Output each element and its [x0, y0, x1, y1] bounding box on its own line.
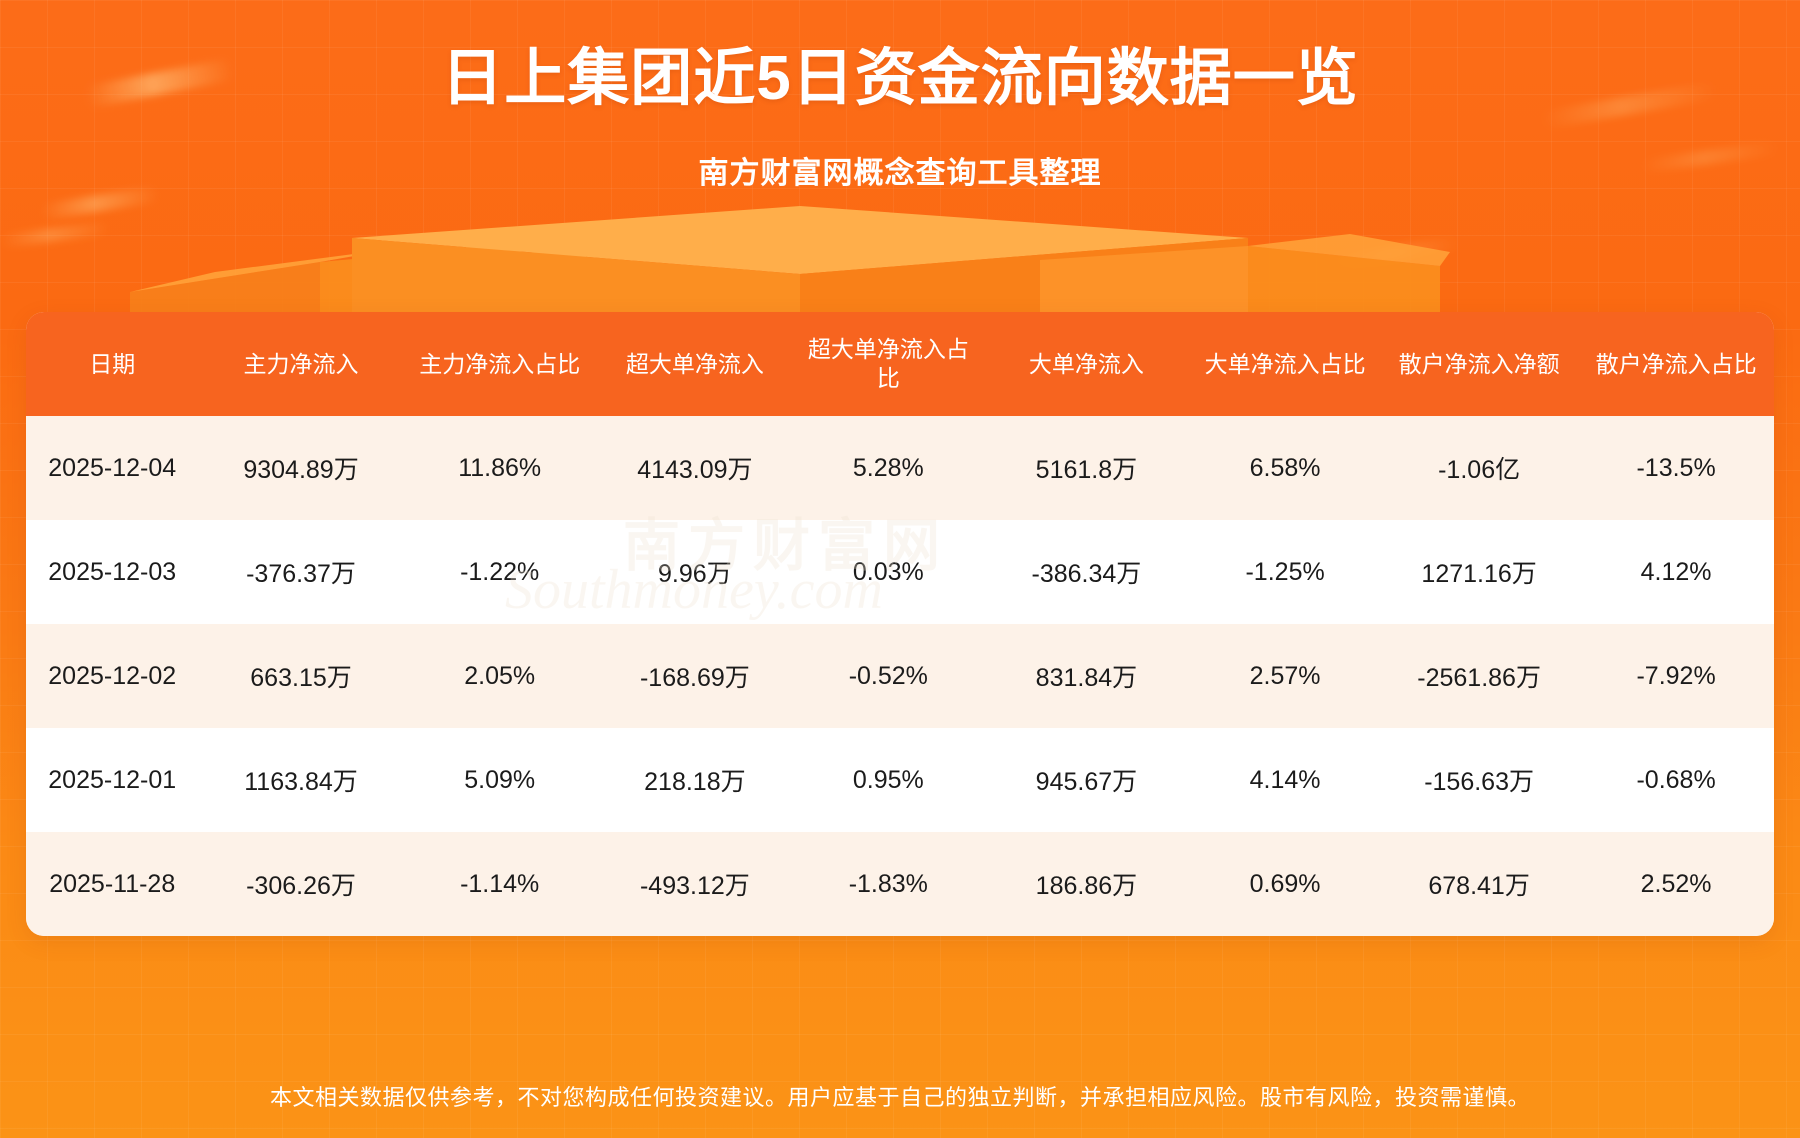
- disclaimer-text: 本文相关数据仅供参考，不对您构成任何投资建议。用户应基于自己的独立判断，并承担相…: [0, 1080, 1800, 1112]
- cell-retail-net: 1271.16万: [1380, 520, 1578, 624]
- cell-lg-pct: 2.57%: [1190, 624, 1380, 728]
- column-header-xl-net[interactable]: 超大单净流入: [596, 312, 794, 416]
- cell-lg-net: -386.34万: [983, 520, 1190, 624]
- cell-lg-net: 186.86万: [983, 832, 1190, 936]
- cell-xl-net: 4143.09万: [596, 416, 794, 520]
- cell-main-net: 9304.89万: [198, 416, 403, 520]
- cell-date: 2025-12-02: [26, 624, 198, 728]
- cell-retail-net: -2561.86万: [1380, 624, 1578, 728]
- cell-date: 2025-12-03: [26, 520, 198, 624]
- cell-main-pct: 2.05%: [404, 624, 596, 728]
- cell-main-net: 1163.84万: [198, 728, 403, 832]
- cell-main-pct: -1.22%: [404, 520, 596, 624]
- cell-main-pct: -1.14%: [404, 832, 596, 936]
- column-header-retail-net[interactable]: 散户净流入净额: [1380, 312, 1578, 416]
- column-header-main-pct[interactable]: 主力净流入占比: [404, 312, 596, 416]
- cell-retail-pct: 4.12%: [1578, 520, 1774, 624]
- cell-xl-net: -493.12万: [596, 832, 794, 936]
- fund-flow-table: 日期 主力净流入 主力净流入占比 超大单净流入 超大单净流入占比 大单净流入 大…: [26, 312, 1774, 936]
- cell-lg-net: 5161.8万: [983, 416, 1190, 520]
- cell-main-net: -306.26万: [198, 832, 403, 936]
- fund-flow-table-card: 日期 主力净流入 主力净流入占比 超大单净流入 超大单净流入占比 大单净流入 大…: [26, 312, 1774, 936]
- cell-retail-net: -156.63万: [1380, 728, 1578, 832]
- cell-lg-net: 831.84万: [983, 624, 1190, 728]
- cell-date: 2025-12-04: [26, 416, 198, 520]
- cell-retail-pct: -13.5%: [1578, 416, 1774, 520]
- cell-main-pct: 11.86%: [404, 416, 596, 520]
- page-title: 日上集团近5日资金流向数据一览: [0, 42, 1800, 115]
- cell-xl-pct: -0.52%: [794, 624, 983, 728]
- cell-retail-pct: 2.52%: [1578, 832, 1774, 936]
- table-row: 2025-12-03 -376.37万 -1.22% 9.96万 0.03% -…: [26, 520, 1774, 624]
- cell-xl-pct: 5.28%: [794, 416, 983, 520]
- cell-lg-pct: -1.25%: [1190, 520, 1380, 624]
- cell-date: 2025-11-28: [26, 832, 198, 936]
- cell-date: 2025-12-01: [26, 728, 198, 832]
- column-header-lg-pct[interactable]: 大单净流入占比: [1190, 312, 1380, 416]
- cell-xl-net: 9.96万: [596, 520, 794, 624]
- light-streak-decoration: [1330, 236, 1461, 270]
- cell-lg-pct: 0.69%: [1190, 832, 1380, 936]
- cell-xl-pct: 0.03%: [794, 520, 983, 624]
- cell-xl-net: -168.69万: [596, 624, 794, 728]
- cell-xl-pct: -1.83%: [794, 832, 983, 936]
- column-header-xl-pct[interactable]: 超大单净流入占比: [794, 312, 983, 416]
- infographic-page: 日上集团近5日资金流向数据一览 南方财富网概念查询工具整理 日期 主力净流入 主…: [0, 0, 1800, 1138]
- table-row: 2025-12-02 663.15万 2.05% -168.69万 -0.52%…: [26, 624, 1774, 728]
- cell-main-net: -376.37万: [198, 520, 403, 624]
- cell-lg-net: 945.67万: [983, 728, 1190, 832]
- page-subtitle: 南方财富网概念查询工具整理: [0, 148, 1800, 192]
- table-header-row: 日期 主力净流入 主力净流入占比 超大单净流入 超大单净流入占比 大单净流入 大…: [26, 312, 1774, 416]
- cell-main-net: 663.15万: [198, 624, 403, 728]
- column-header-date[interactable]: 日期: [26, 312, 198, 416]
- column-header-lg-net[interactable]: 大单净流入: [983, 312, 1190, 416]
- cell-xl-net: 218.18万: [596, 728, 794, 832]
- cell-lg-pct: 6.58%: [1190, 416, 1380, 520]
- cell-lg-pct: 4.14%: [1190, 728, 1380, 832]
- cell-xl-pct: 0.95%: [794, 728, 983, 832]
- column-header-retail-pct[interactable]: 散户净流入占比: [1578, 312, 1774, 416]
- cell-retail-net: -1.06亿: [1380, 416, 1578, 520]
- light-streak-decoration: [0, 221, 110, 247]
- cell-retail-pct: -7.92%: [1578, 624, 1774, 728]
- column-header-main-net[interactable]: 主力净流入: [198, 312, 403, 416]
- cell-main-pct: 5.09%: [404, 728, 596, 832]
- table-row: 2025-11-28 -306.26万 -1.14% -493.12万 -1.8…: [26, 832, 1774, 936]
- table-row: 2025-12-01 1163.84万 5.09% 218.18万 0.95% …: [26, 728, 1774, 832]
- table-row: 2025-12-04 9304.89万 11.86% 4143.09万 5.28…: [26, 416, 1774, 520]
- cell-retail-net: 678.41万: [1380, 832, 1578, 936]
- cell-retail-pct: -0.68%: [1578, 728, 1774, 832]
